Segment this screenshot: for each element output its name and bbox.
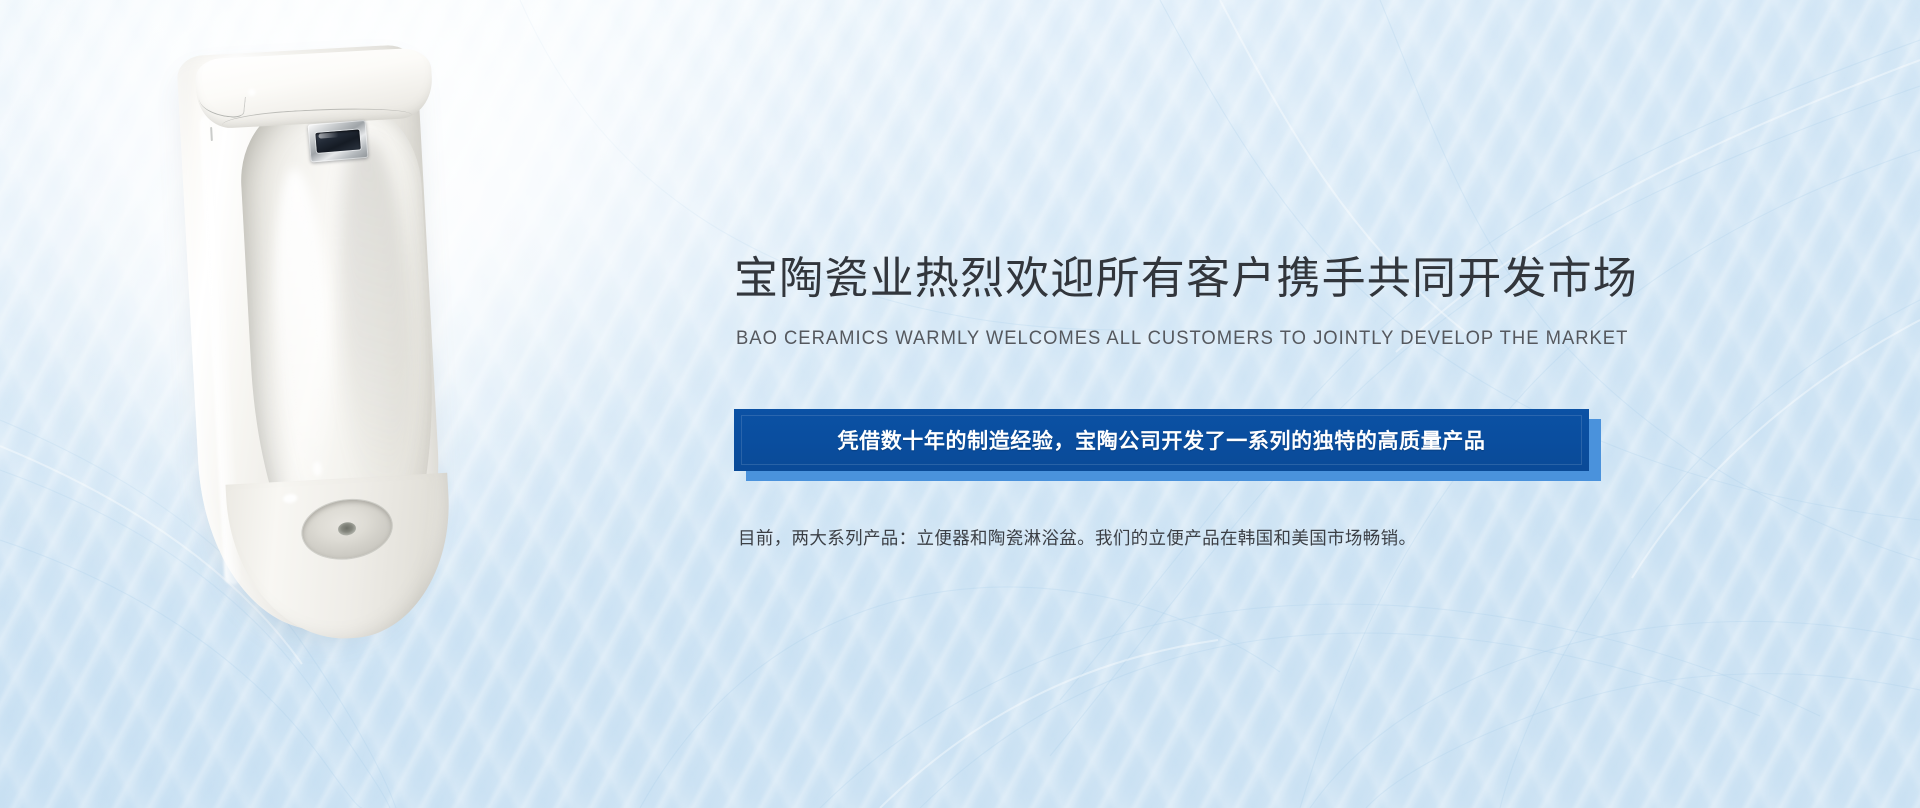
banner-subheadline: BAO CERAMICS WARMLY WELCOMES ALL CUSTOME… <box>736 327 1571 350</box>
banner-copy-block: 宝陶瓷业热烈欢迎所有客户携手共同开发市场 BAO CERAMICS WARMLY… <box>726 0 1626 808</box>
callout-banner: 凭借数十年的制造经验，宝陶公司开发了一系列的独特的高质量产品 <box>734 409 1589 471</box>
product-image-urinal <box>160 37 460 651</box>
callout-box: 凭借数十年的制造经验，宝陶公司开发了一系列的独特的高质量产品 <box>734 409 1589 471</box>
callout-text: 凭借数十年的制造经验，宝陶公司开发了一系列的独特的高质量产品 <box>838 425 1486 455</box>
ceramic-urinal-icon <box>176 44 447 636</box>
chrome-sensor-icon <box>308 120 369 163</box>
promotional-banner: 宝陶瓷业热烈欢迎所有客户携手共同开发市场 BAO CERAMICS WARMLY… <box>0 0 1920 808</box>
banner-headline: 宝陶瓷业热烈欢迎所有客户携手共同开发市场 <box>734 256 1618 303</box>
banner-paragraph: 目前，两大系列产品：立便器和陶瓷淋浴盆。我们的立便产品在韩国和美国市场畅销。 <box>738 525 1622 551</box>
drain-hole <box>337 521 357 536</box>
